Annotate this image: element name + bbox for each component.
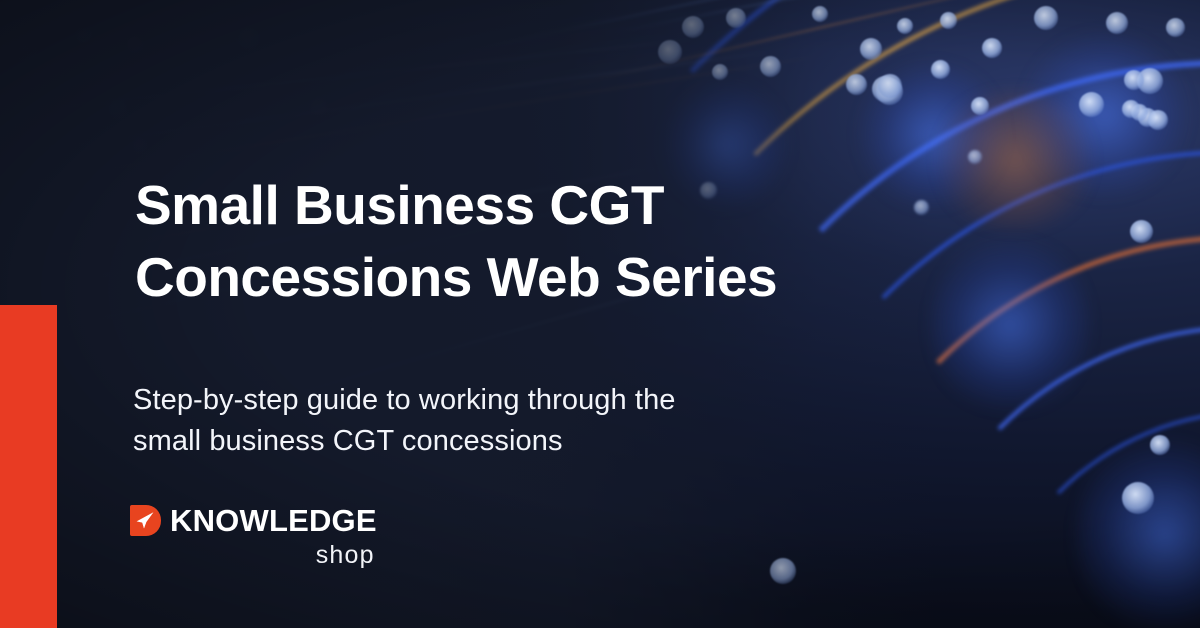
banner-content: Small Business CGT Concessions Web Serie… bbox=[135, 0, 895, 628]
page-subtitle-line-2: small business CGT concessions bbox=[133, 421, 863, 462]
accent-bar bbox=[0, 305, 57, 628]
logo-wordmark: KNOWLEDGE bbox=[170, 505, 377, 536]
paper-plane-icon bbox=[130, 505, 161, 536]
page-subtitle: Step-by-step guide to working through th… bbox=[133, 380, 863, 462]
logo-primary-row: KNOWLEDGE bbox=[130, 505, 377, 536]
page-title-line-2: Concessions Web Series bbox=[135, 242, 875, 314]
page-title-line-1: Small Business CGT bbox=[135, 170, 875, 242]
logo-sub-wordmark: shop bbox=[130, 543, 377, 568]
page-subtitle-line-1: Step-by-step guide to working through th… bbox=[133, 380, 863, 421]
knowledge-shop-logo[interactable]: KNOWLEDGE shop bbox=[130, 505, 377, 568]
social-share-banner: Small Business CGT Concessions Web Serie… bbox=[0, 0, 1200, 628]
page-title: Small Business CGT Concessions Web Serie… bbox=[135, 170, 875, 313]
